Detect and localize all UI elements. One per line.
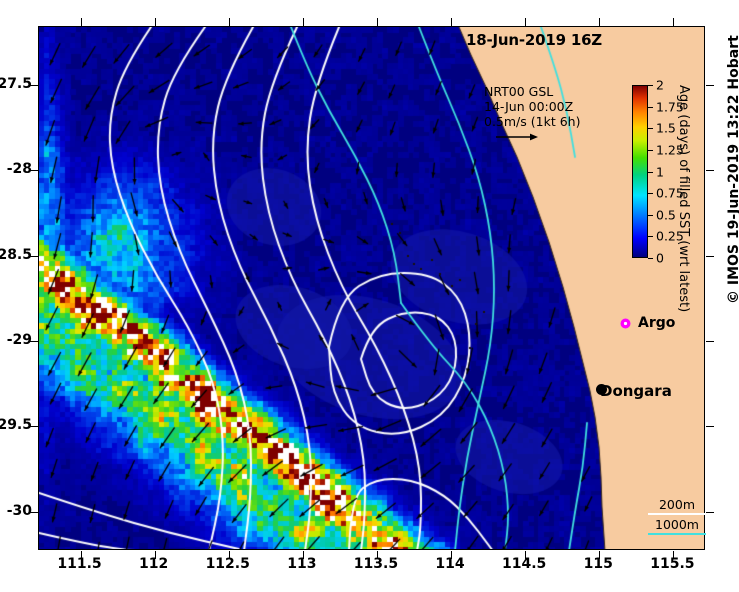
x-axis-tick-label: 113.5 xyxy=(354,556,398,572)
colorbar-tick-label: 1.5 xyxy=(656,121,676,136)
y-axis-tick-label: -28.5 xyxy=(0,247,32,263)
colorbar: 21.751.51.2510.750.50.250 xyxy=(632,85,648,258)
colorbar-tick xyxy=(648,236,653,237)
argo-marker-icon xyxy=(620,318,631,329)
isobath-1000m-swatch xyxy=(648,533,706,535)
colorbar-gradient xyxy=(632,85,648,258)
colorbar-title: Age (days) of filled SST (wrt latest) xyxy=(676,85,691,258)
x-tick xyxy=(229,18,230,26)
x-axis-tick-label: 112 xyxy=(139,556,168,572)
colorbar-tick xyxy=(648,172,653,173)
x-axis-tick-label: 114 xyxy=(435,556,464,572)
x-axis-tick-label: 111.5 xyxy=(57,556,101,572)
y-axis-tick-label: -28 xyxy=(7,161,32,177)
y-tick xyxy=(706,512,714,513)
sst-age-heatmap-canvas xyxy=(39,27,705,550)
y-tick xyxy=(706,85,714,86)
isobath-legend: 200m 1000m xyxy=(648,498,706,538)
x-tick xyxy=(599,18,600,26)
x-tick xyxy=(673,18,674,26)
x-axis-tick-label: 113 xyxy=(287,556,316,572)
colorbar-tick-label: 1 xyxy=(656,164,664,179)
argo-legend-label: Argo xyxy=(638,315,675,331)
x-axis-tick-label: 114.5 xyxy=(502,556,546,572)
y-tick xyxy=(706,170,714,171)
x-tick xyxy=(303,18,304,26)
annotation-line-speed: 0.5m/s (1kt 6h) xyxy=(484,114,580,129)
isobath-200m-swatch xyxy=(648,513,706,515)
colorbar-tick-label: 2 xyxy=(656,78,664,93)
y-tick xyxy=(706,256,714,257)
x-tick xyxy=(155,18,156,26)
y-axis-tick-label: -29.5 xyxy=(0,417,32,433)
colorbar-tick xyxy=(648,193,653,194)
colorbar-tick-label: 0 xyxy=(656,251,664,266)
map-plot-area[interactable] xyxy=(38,26,705,550)
isobath-200m-label: 200m xyxy=(648,498,706,512)
y-tick xyxy=(706,426,714,427)
x-tick xyxy=(377,18,378,26)
dongara-label: Dongara xyxy=(600,382,672,400)
colorbar-tick xyxy=(648,107,653,108)
x-axis-tick-label: 112.5 xyxy=(206,556,250,572)
isobath-1000m-label: 1000m xyxy=(648,518,706,532)
annotation-line-model: NRT00 GSL xyxy=(484,84,580,99)
x-tick xyxy=(525,18,526,26)
colorbar-tick-label: 0.5 xyxy=(656,207,676,222)
y-tick xyxy=(706,341,714,342)
y-axis-tick-label: -30 xyxy=(7,503,32,519)
map-title: 18-Jun-2019 16Z xyxy=(466,31,602,49)
y-axis-tick-label: -29 xyxy=(7,332,32,348)
copyright-text: © IMOS 19-Jun-2019 13:22 Hobart xyxy=(726,35,739,304)
model-annotation-block: NRT00 GSL 14-Jun 00:00Z 0.5m/s (1kt 6h) xyxy=(484,84,580,129)
x-axis-tick-label: 115.5 xyxy=(650,556,694,572)
x-tick xyxy=(81,18,82,26)
colorbar-tick xyxy=(648,150,653,151)
colorbar-tick xyxy=(648,85,653,86)
velocity-scale-arrow-icon xyxy=(496,132,538,142)
y-axis-tick-label: -27.5 xyxy=(0,76,32,92)
x-axis-tick-label: 115 xyxy=(584,556,613,572)
annotation-line-date: 14-Jun 00:00Z xyxy=(484,99,580,114)
colorbar-tick xyxy=(648,128,653,129)
x-tick xyxy=(451,18,452,26)
colorbar-tick xyxy=(648,258,653,259)
colorbar-tick xyxy=(648,215,653,216)
